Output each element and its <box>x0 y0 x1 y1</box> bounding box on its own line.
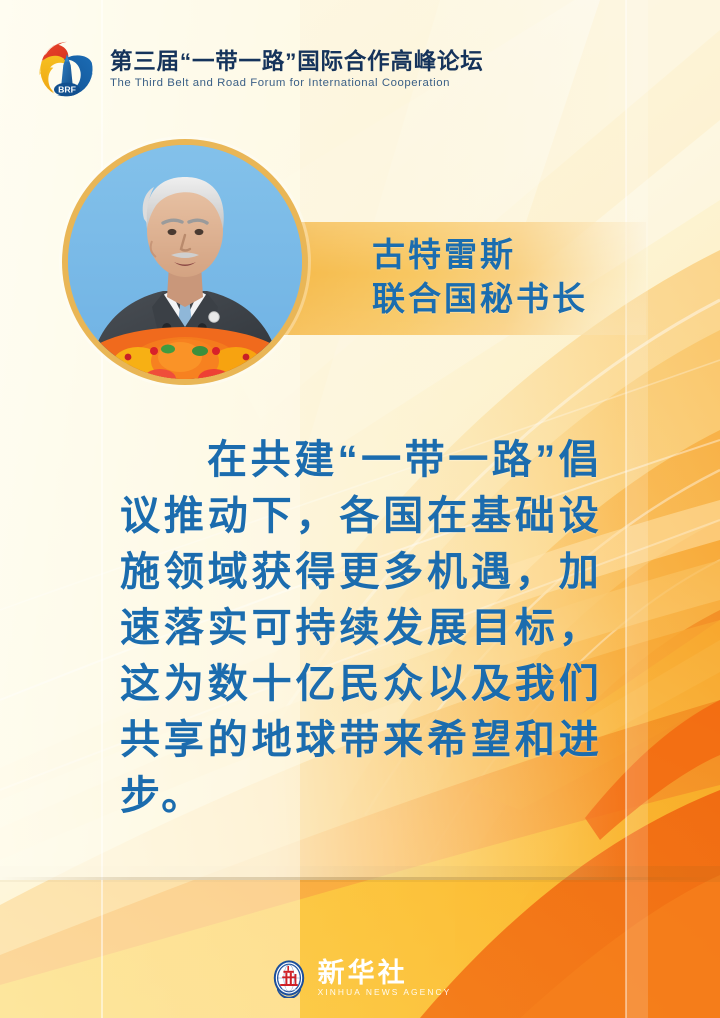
xinhua-name-cn: 新华社 <box>318 960 408 987</box>
quote-text: 在共建“一带一路”倡议推动下，各国在基础设施领域获得更多机遇，加速落实可持续发展… <box>120 432 600 824</box>
speaker-portrait-illustration <box>68 145 302 379</box>
brf-logo-svg: BRF <box>36 38 98 100</box>
xinhua-emblem-wordmark: XINHUA <box>282 987 297 991</box>
forum-title-block: 第三届“一带一路”国际合作高峰论坛 The Third Belt and Roa… <box>110 49 484 88</box>
forum-title-en: The Third Belt and Road Forum for Intern… <box>110 77 484 89</box>
poster-canvas: BRF 第三届“一带一路”国际合作高峰论坛 The Third Belt and… <box>0 0 720 1018</box>
xinhua-emblem-svg: XINHUA <box>269 958 309 998</box>
brf-swirl-logo-icon: BRF <box>36 38 98 100</box>
xinhua-footer: XINHUA 新华社 XINHUA NEWS AGENCY <box>0 958 720 998</box>
forum-header: BRF 第三届“一带一路”国际合作高峰论坛 The Third Belt and… <box>36 38 484 100</box>
speaker-name: 古特雷斯 <box>372 233 588 277</box>
brf-logo-text: BRF <box>58 85 76 95</box>
speaker-portrait <box>68 145 302 379</box>
xinhua-name-en: XINHUA NEWS AGENCY <box>318 988 452 996</box>
xinhua-emblem-icon: XINHUA <box>269 958 309 998</box>
horizon-reflection-line <box>0 877 720 880</box>
forum-title-cn: 第三届“一带一路”国际合作高峰论坛 <box>110 49 484 74</box>
speaker-role: 联合国秘书长 <box>372 277 588 321</box>
speaker-identity: 古特雷斯 联合国秘书长 <box>372 233 588 320</box>
xinhua-wordmark: 新华社 XINHUA NEWS AGENCY <box>318 960 452 996</box>
